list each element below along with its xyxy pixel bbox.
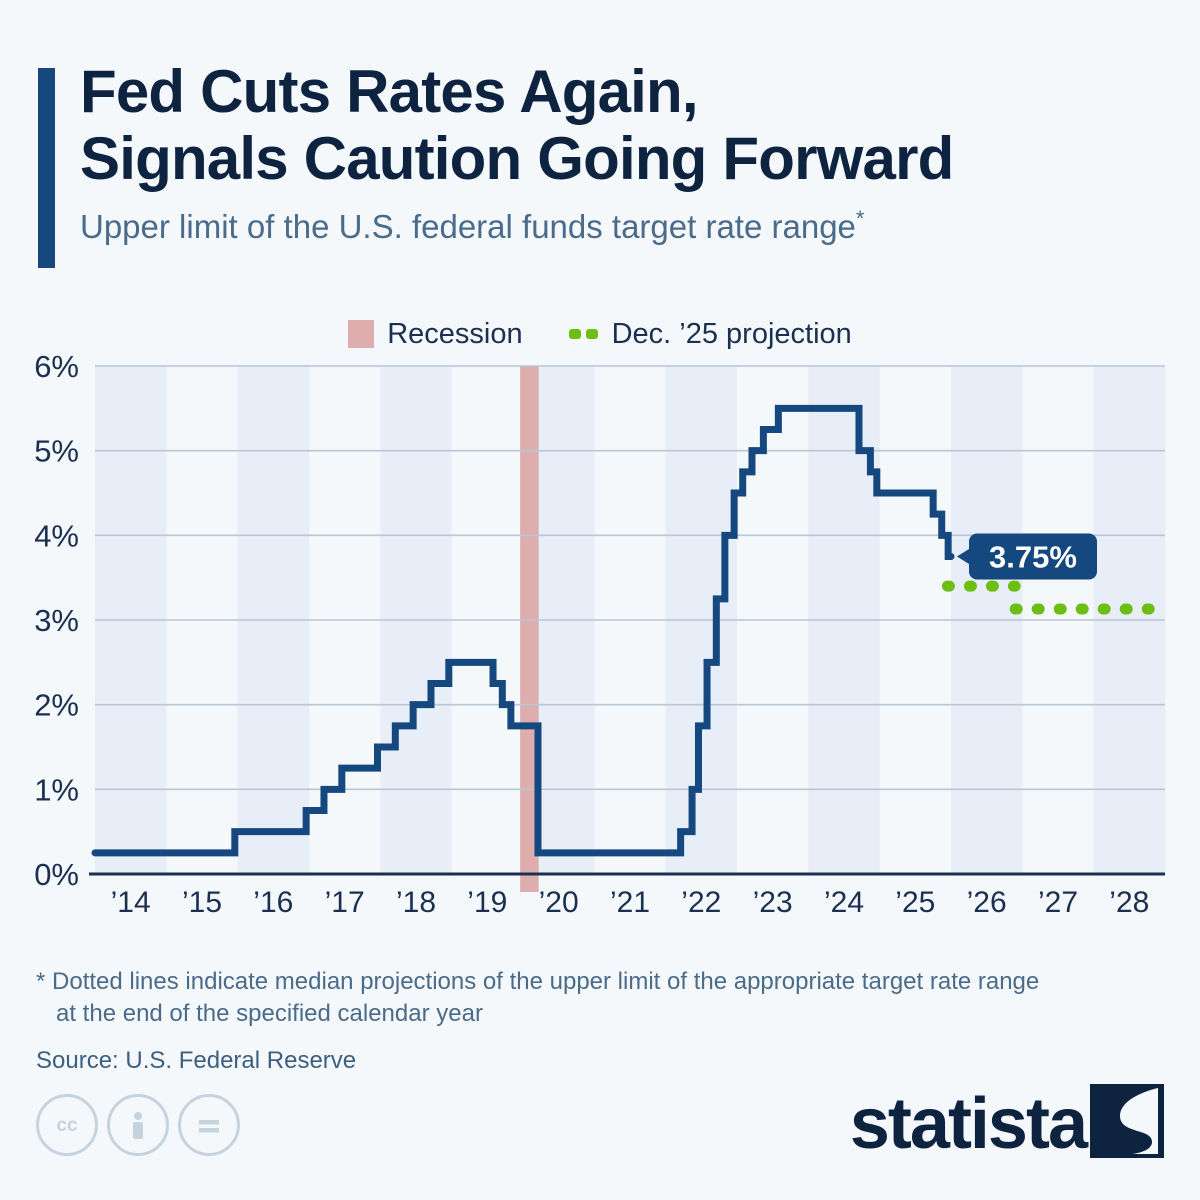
- x-axis-tick-label: ’26: [967, 886, 1007, 919]
- legend-item-recession[interactable]: Recession: [348, 318, 522, 351]
- title-line-2: Signals Caution Going Forward: [80, 125, 1170, 192]
- legend-label-projection: Dec. ’25 projection: [612, 318, 852, 351]
- x-axis-tick-label: ’19: [467, 886, 507, 919]
- equals-glyph-icon: [188, 1104, 230, 1146]
- y-axis-tick-label: 2%: [34, 688, 79, 723]
- legend-item-projection[interactable]: Dec. ’25 projection: [569, 318, 852, 351]
- chart-legend: Recession Dec. ’25 projection: [0, 312, 1200, 356]
- y-axis-tick-label: 6%: [34, 352, 79, 384]
- creative-commons-icons: cc: [36, 1094, 240, 1156]
- x-axis-tick-label: ’21: [610, 886, 650, 919]
- x-axis-tick-label: ’16: [253, 886, 293, 919]
- title-accent-bar: [38, 68, 55, 268]
- y-axis-tick-label: 4%: [34, 518, 79, 553]
- subtitle-text: Upper limit of the U.S. federal funds ta…: [80, 208, 856, 245]
- recession-swatch-icon: [348, 320, 374, 348]
- x-axis-tick-label: ’22: [681, 886, 721, 919]
- statista-mark-icon: [1090, 1084, 1164, 1158]
- person-glyph-icon: [117, 1104, 159, 1146]
- page-title: Fed Cuts Rates Again, Signals Caution Go…: [80, 58, 1170, 246]
- x-axis-tick-label: ’25: [895, 886, 935, 919]
- infographic-footer: cc statista: [0, 1090, 1200, 1200]
- x-axis-tick-label: ’15: [182, 886, 222, 919]
- y-axis-tick-label: 3%: [34, 603, 79, 638]
- footnote-line-2: at the end of the specified calendar yea…: [36, 998, 1176, 1030]
- callout-group: 3.75%: [957, 534, 1097, 580]
- x-axis-tick-label: ’24: [824, 886, 864, 919]
- x-axis-tick-label: ’14: [111, 886, 151, 919]
- y-axis-tick-label: 0%: [34, 857, 79, 892]
- x-axis-tick-label: ’17: [325, 886, 365, 919]
- value-callout: 3.75%: [957, 534, 1097, 580]
- title-line-1: Fed Cuts Rates Again,: [80, 58, 1170, 125]
- x-axis-tick-label: ’28: [1109, 886, 1149, 919]
- infographic-header: Fed Cuts Rates Again, Signals Caution Go…: [0, 0, 1200, 300]
- y-axis-tick-labels: 0%1%2%3%4%5%6%: [34, 352, 79, 892]
- chart-container: 0%1%2%3%4%5%6% ’14’15’16’17’18’19’20’21’…: [0, 352, 1200, 952]
- creative-commons-icon[interactable]: cc: [36, 1094, 98, 1156]
- fed-funds-rate-step-chart: 0%1%2%3%4%5%6% ’14’15’16’17’18’19’20’21’…: [0, 352, 1200, 952]
- attribution-person-icon[interactable]: [107, 1094, 169, 1156]
- statista-logo[interactable]: statista: [850, 1084, 1164, 1158]
- page-subtitle: Upper limit of the U.S. federal funds ta…: [80, 206, 1170, 246]
- x-axis-tick-label: ’18: [396, 886, 436, 919]
- callout-value-label: 3.75%: [989, 540, 1077, 575]
- svg-text:cc: cc: [56, 1115, 78, 1136]
- statista-wordmark: statista: [850, 1090, 1086, 1158]
- projection-dash-icon: [569, 329, 599, 339]
- source-line: Source: U.S. Federal Reserve: [36, 1047, 1176, 1075]
- footnote-line-1: * Dotted lines indicate median projectio…: [36, 966, 1176, 998]
- x-axis-tick-label: ’20: [539, 886, 579, 919]
- no-derivatives-equals-icon[interactable]: [178, 1094, 240, 1156]
- x-axis-tick-label: ’27: [1038, 886, 1078, 919]
- x-axis-tick-label: ’23: [753, 886, 793, 919]
- x-axis-tick-labels: ’14’15’16’17’18’19’20’21’22’23’24’25’26’…: [111, 886, 1150, 919]
- footnotes-block: * Dotted lines indicate median projectio…: [36, 966, 1176, 1075]
- y-axis-tick-label: 1%: [34, 772, 79, 807]
- subtitle-footnote-marker: *: [856, 206, 865, 231]
- legend-label-recession: Recession: [387, 318, 522, 351]
- cc-glyph-icon: cc: [46, 1104, 88, 1146]
- y-axis-tick-label: 5%: [34, 434, 79, 469]
